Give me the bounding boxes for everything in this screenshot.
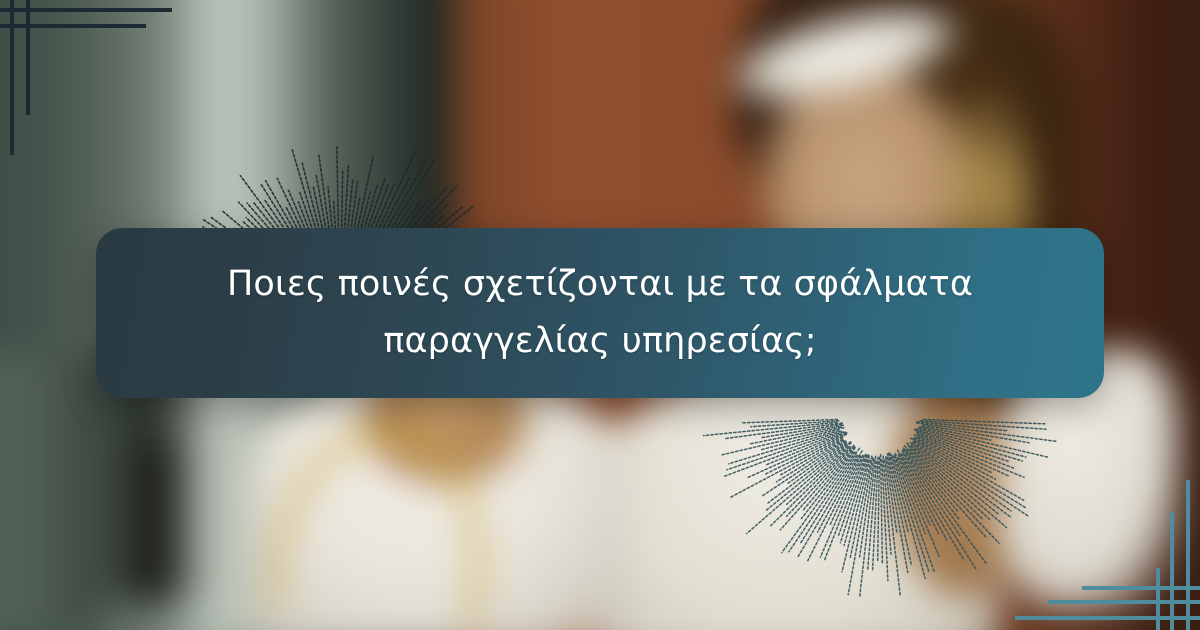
- background-doorway-dark: [135, 440, 175, 600]
- question-text: Ποιες ποινές σχετίζονται με τα σφάλματα …: [152, 256, 1048, 369]
- corner-line-vertical-outer: [1156, 568, 1160, 630]
- corner-line-horizontal-inner: [1015, 616, 1200, 620]
- corner-line-vertical-inner: [1186, 480, 1190, 630]
- corner-line-horizontal-outer: [1082, 586, 1200, 590]
- corner-line-vertical-mid: [1170, 512, 1174, 630]
- corner-line-horizontal-mid: [1048, 600, 1200, 604]
- corner-line-horizontal-inner: [0, 8, 172, 12]
- question-card: Ποιες ποινές σχετίζονται με τα σφάλματα …: [96, 228, 1104, 398]
- corner-line-horizontal-outer: [0, 24, 146, 28]
- poster-canvas: Ποιες ποινές σχετίζονται με τα σφάλματα …: [0, 0, 1200, 630]
- corner-line-vertical-outer: [26, 0, 30, 115]
